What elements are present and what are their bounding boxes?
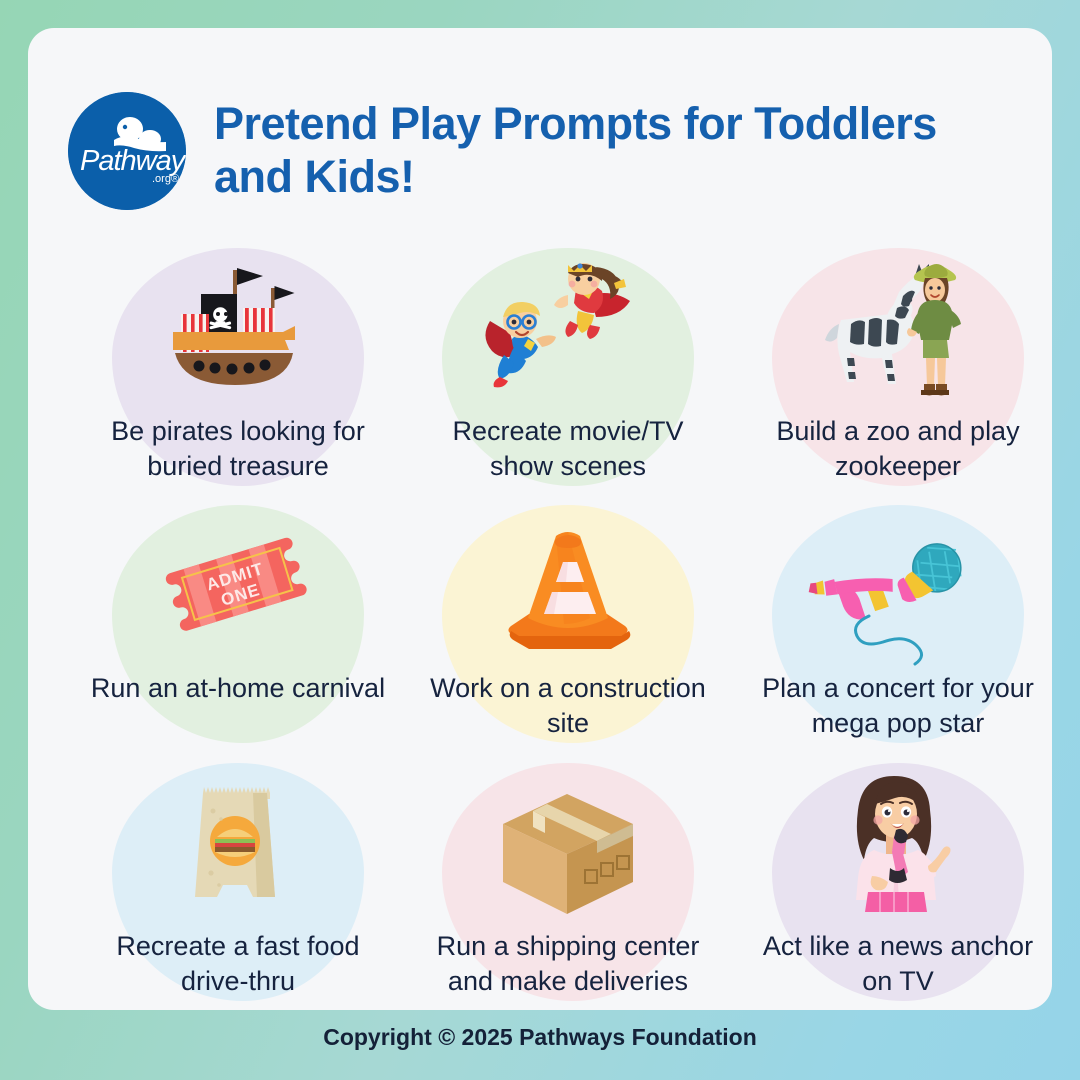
microphone-icon bbox=[803, 515, 993, 665]
news-anchor-icon bbox=[803, 773, 993, 923]
card-caption: Run a shipping center and make deliverie… bbox=[418, 929, 718, 999]
traffic-cone-icon bbox=[473, 515, 663, 665]
prompt-card-carnival[interactable]: ADMIT ONE Run an at-home carnival bbox=[73, 497, 403, 754]
card-caption: Run an at-home carnival bbox=[88, 671, 388, 706]
card-caption: Be pirates looking for buried treasure bbox=[88, 414, 388, 484]
prompt-grid: Be pirates looking for buried treasure bbox=[73, 240, 1063, 1012]
pathways-org-logo: Pathways .org® bbox=[68, 92, 186, 210]
card-caption: Recreate a fast food drive-thru bbox=[88, 929, 388, 999]
admit-one-ticket-icon: ADMIT ONE bbox=[143, 515, 333, 665]
pirate-ship-icon bbox=[143, 258, 333, 408]
card-caption: Build a zoo and play zookeeper bbox=[748, 414, 1048, 484]
takeout-bag-burger-icon bbox=[143, 773, 333, 923]
prompt-card-shipping[interactable]: Run a shipping center and make deliverie… bbox=[403, 755, 733, 1012]
card-caption: Act like a news anchor on TV bbox=[748, 929, 1048, 999]
page-title: Pretend Play Prompts for Toddlers and Ki… bbox=[214, 98, 1012, 203]
copyright-footer: Copyright © 2025 Pathways Foundation bbox=[0, 1024, 1080, 1051]
card-caption: Plan a concert for your mega pop star bbox=[748, 671, 1048, 741]
prompt-card-fast-food[interactable]: Recreate a fast food drive-thru bbox=[73, 755, 403, 1012]
superhero-kids-icon bbox=[473, 258, 663, 408]
card-caption: Recreate movie/TV show scenes bbox=[418, 414, 718, 484]
prompt-card-movie-tv[interactable]: Recreate movie/TV show scenes bbox=[403, 240, 733, 497]
prompt-card-concert[interactable]: Plan a concert for your mega pop star bbox=[733, 497, 1063, 754]
prompt-card-zoo[interactable]: Build a zoo and play zookeeper bbox=[733, 240, 1063, 497]
header: Pathways .org® Pretend Play Prompts for … bbox=[68, 76, 1012, 226]
prompt-card-news-anchor[interactable]: Act like a news anchor on TV bbox=[733, 755, 1063, 1012]
content-panel: Pathways .org® Pretend Play Prompts for … bbox=[28, 28, 1052, 1010]
cardboard-box-icon bbox=[473, 773, 663, 923]
card-caption: Work on a construction site bbox=[418, 671, 718, 741]
zebra-zookeeper-icon bbox=[803, 258, 993, 408]
prompt-card-construction[interactable]: Work on a construction site bbox=[403, 497, 733, 754]
prompt-card-pirates[interactable]: Be pirates looking for buried treasure bbox=[73, 240, 403, 497]
svg-text:.org®: .org® bbox=[152, 173, 179, 185]
